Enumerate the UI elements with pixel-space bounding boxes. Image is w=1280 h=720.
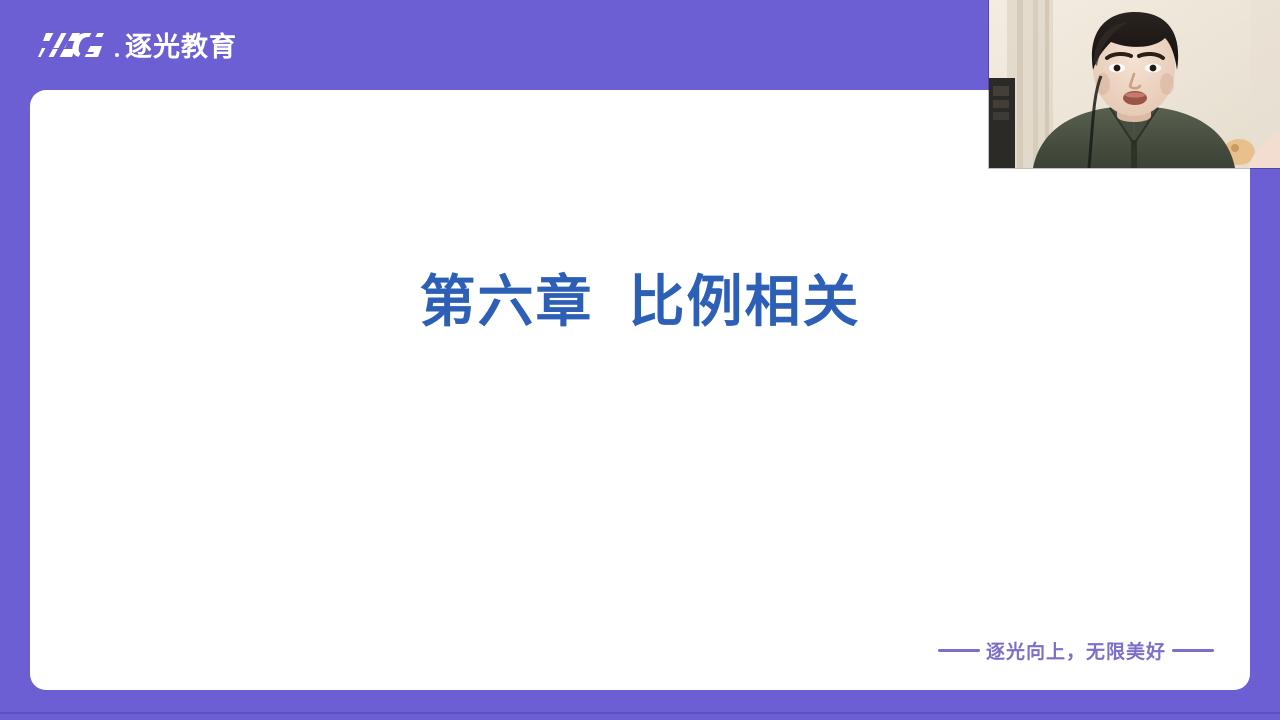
brand-separator-dot bbox=[115, 53, 119, 57]
brand-name: 逐光教育 bbox=[125, 34, 237, 61]
slide-title: 第六章 比例相关 bbox=[30, 270, 1250, 334]
slide-card: 第六章 比例相关 逐光向上，无限美好 bbox=[30, 90, 1250, 690]
instructor-webcam[interactable] bbox=[989, 0, 1280, 168]
footer-rule-left-icon bbox=[938, 649, 980, 652]
zg-monogram-logo-icon bbox=[34, 30, 112, 64]
presentation-stage: 逐光教育 第六章 比例相关 逐光向上，无限美好 bbox=[0, 0, 1280, 720]
slide-footer-slogan: 逐光向上，无限美好 bbox=[938, 637, 1214, 664]
footer-slogan-text: 逐光向上，无限美好 bbox=[986, 637, 1166, 664]
bottom-seam-divider bbox=[0, 712, 1280, 714]
footer-rule-right-icon bbox=[1172, 649, 1214, 652]
brand-header: 逐光教育 bbox=[34, 24, 237, 70]
